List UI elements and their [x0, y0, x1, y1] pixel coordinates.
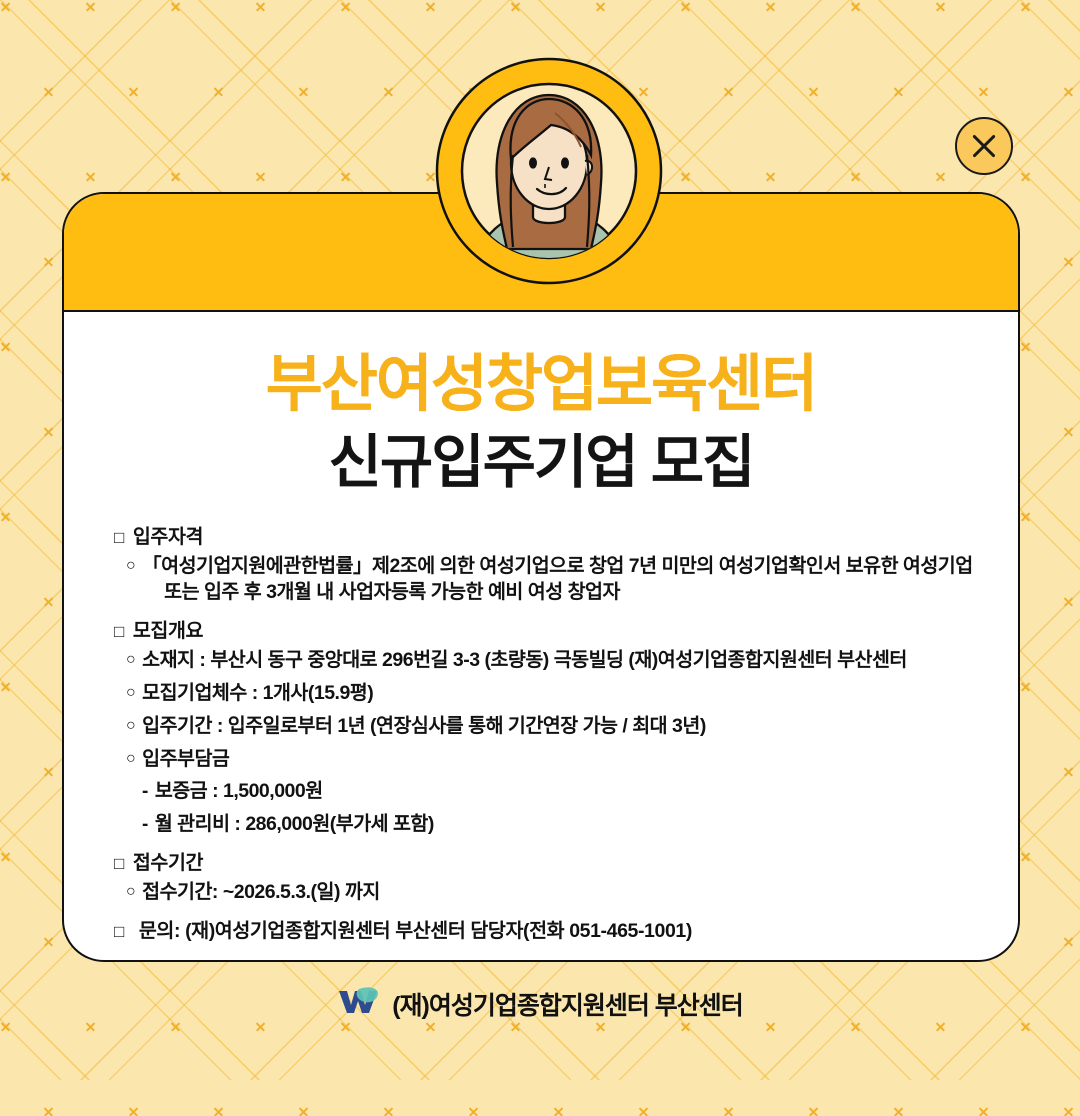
section-heading: □문의: (재)여성기업종합지원센터 부산센터 담당자(전화 051-465-1… — [114, 922, 1018, 942]
circle-marker-icon: ○ — [126, 747, 135, 770]
page-subtitle: 신규입주기업 모집 — [64, 433, 1018, 494]
section-heading-label: 접수기간 — [133, 854, 203, 874]
list-item-label: 모집기업체수 : 1개사(15.9평) — [142, 682, 373, 704]
list-item: -보증금 : 1,500,000원 — [142, 779, 1018, 805]
woman-avatar-illustration — [433, 55, 665, 287]
list-item: ○모집기업체수 : 1개사(15.9평) — [126, 681, 1018, 707]
pattern-cross — [298, 1105, 309, 1116]
dash-marker-icon: - — [142, 812, 148, 838]
w-logo-mark — [337, 985, 381, 1022]
pattern-cross — [213, 1105, 224, 1116]
square-marker-icon: □ — [114, 855, 124, 872]
pattern-cross — [43, 1105, 54, 1116]
list-item-label: 월 관리비 : 286,000원(부가세 포함) — [155, 813, 434, 835]
list-item-label: 소재지 : 부산시 동구 중앙대로 296번길 3-3 (초량동) 극동빌딩 (… — [142, 649, 907, 671]
pattern-cross — [1063, 1105, 1074, 1116]
list-item-text-wrap: 「여성기업지원에관한법률」제2조에 의한 여성기업으로 창업 7년 미만의 여성… — [142, 554, 1018, 605]
list-item: ○입주기간 : 입주일로부터 1년 (연장심사를 통해 기간연장 가능 / 최대… — [126, 714, 1018, 740]
list-item-label: 「여성기업지원에관한법률」제2조에 의한 여성기업으로 창업 7년 미만의 여성… — [142, 555, 973, 577]
section-overview: □모집개요○소재지 : 부산시 동구 중앙대로 296번길 3-3 (초량동) … — [114, 622, 1018, 838]
list-item-label: 입주기간 : 입주일로부터 1년 (연장심사를 통해 기간연장 가능 / 최대 … — [142, 715, 706, 737]
footer-organization-name: (재)여성기업종합지원센터 부산센터 — [392, 986, 743, 1022]
card-body: 부산여성창업보육센터 신규입주기업 모집 □입주자격○「여성기업지원에관한법률」… — [64, 352, 1018, 962]
list-item-text-wrap: 입주기간 : 입주일로부터 1년 (연장심사를 통해 기간연장 가능 / 최대 … — [142, 714, 1018, 740]
list-item-text-wrap: 월 관리비 : 286,000원(부가세 포함) — [155, 812, 1018, 838]
close-icon[interactable] — [955, 117, 1013, 175]
list-item-continuation: 또는 입주 후 3개월 내 사업자등록 가능한 예비 여성 창업자 — [164, 580, 1018, 606]
pattern-cross — [553, 1105, 564, 1116]
list-item: ○「여성기업지원에관한법률」제2조에 의한 여성기업으로 창업 7년 미만의 여… — [126, 554, 1018, 605]
pattern-cross — [383, 1105, 394, 1116]
circle-marker-icon: ○ — [126, 554, 135, 577]
circle-marker-icon: ○ — [126, 714, 135, 737]
section-heading: □모집개요 — [114, 622, 1018, 642]
pattern-cross — [723, 1105, 734, 1116]
list-item-text-wrap: 보증금 : 1,500,000원 — [155, 779, 1018, 805]
pattern-cross — [638, 1105, 649, 1116]
section-eligibility: □입주자격○「여성기업지원에관한법률」제2조에 의한 여성기업으로 창업 7년 … — [114, 528, 1018, 606]
dash-marker-icon: - — [142, 779, 148, 805]
poster-card: 부산여성창업보육센터 신규입주기업 모집 □입주자격○「여성기업지원에관한법률」… — [62, 192, 1020, 962]
circle-marker-icon: ○ — [126, 880, 135, 903]
list-item-text-wrap: 모집기업체수 : 1개사(15.9평) — [142, 681, 1018, 707]
section-heading-label: 문의: (재)여성기업종합지원센터 부산센터 담당자(전화 051-465-10… — [139, 922, 692, 942]
circle-marker-icon: ○ — [126, 648, 135, 671]
list-item-label: 입주부담금 — [142, 748, 229, 770]
section-heading: □접수기간 — [114, 854, 1018, 874]
list-item-label: 접수기간: ~2026.5.3.(일) 까지 — [142, 881, 380, 903]
pattern-cross — [978, 1105, 989, 1116]
list-item-text-wrap: 입주부담금 — [142, 747, 1018, 773]
section-heading: □입주자격 — [114, 528, 1018, 548]
section-inquiry: □문의: (재)여성기업종합지원센터 부산센터 담당자(전화 051-465-1… — [114, 922, 1018, 942]
list-item-label: 보증금 : 1,500,000원 — [155, 780, 323, 802]
section-heading-label: 모집개요 — [133, 622, 203, 642]
square-marker-icon: □ — [114, 529, 124, 546]
content-sections: □입주자격○「여성기업지원에관한법률」제2조에 의한 여성기업으로 창업 7년 … — [114, 528, 1018, 942]
list-item-text-wrap: 소재지 : 부산시 동구 중앙대로 296번길 3-3 (초량동) 극동빌딩 (… — [142, 648, 1018, 674]
pattern-cross — [128, 1105, 139, 1116]
list-item: ○소재지 : 부산시 동구 중앙대로 296번길 3-3 (초량동) 극동빌딩 … — [126, 648, 1018, 674]
list-item: -월 관리비 : 286,000원(부가세 포함) — [142, 812, 1018, 838]
list-item-text-wrap: 접수기간: ~2026.5.3.(일) 까지 — [142, 880, 1018, 906]
footer: (재)여성기업종합지원센터 부산센터 — [0, 985, 1080, 1022]
pattern-cross — [808, 1105, 819, 1116]
square-marker-icon: □ — [114, 623, 124, 640]
list-item: ○접수기간: ~2026.5.3.(일) 까지 — [126, 880, 1018, 906]
section-heading-label: 입주자격 — [133, 528, 203, 548]
circle-marker-icon: ○ — [126, 681, 135, 704]
list-item: ○입주부담금 — [126, 747, 1018, 773]
pattern-cross — [893, 1105, 904, 1116]
section-application-period: □접수기간○접수기간: ~2026.5.3.(일) 까지 — [114, 854, 1018, 906]
pattern-cross — [468, 1105, 479, 1116]
page-title: 부산여성창업보육센터 — [64, 352, 1018, 417]
square-marker-icon: □ — [114, 923, 124, 940]
